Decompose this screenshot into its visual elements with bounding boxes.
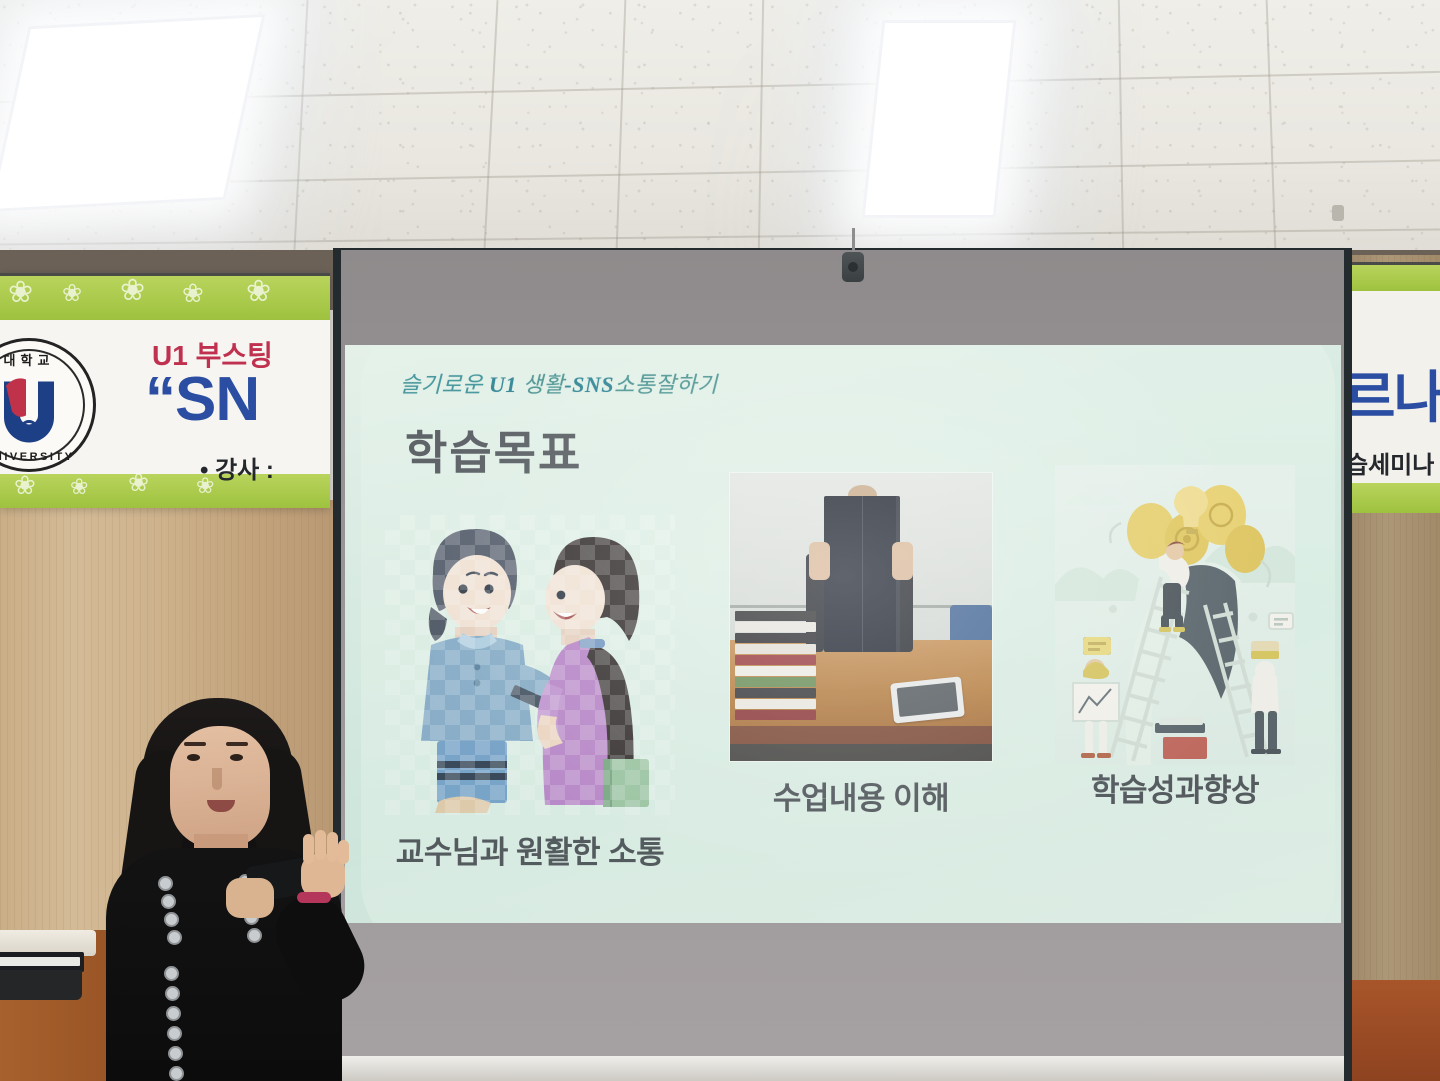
slide-caption-1: 교수님과 원활한 소통 [396,827,664,872]
dress-button [165,986,180,1001]
dress-button [158,876,173,891]
dress-button [168,1046,183,1061]
photo-book-stack [735,611,816,720]
banner-bottom-band: ❀ ❀ ❀ ❀ [0,474,330,508]
slide-header-middle: 생활 [517,372,564,397]
presenter-eye [230,754,243,761]
dress-button [166,1006,181,1021]
right-banner-big-text: 르나 [1352,353,1440,434]
slide-column-3: 학습성과향상 [1055,465,1295,765]
slide-header-text: 슬기로운 U1 생활-SNS소통잘하기 [400,367,718,399]
presenter-nose [212,768,222,790]
wainscot-right [1352,980,1440,1081]
checker-backdrop [385,515,675,815]
presenter-eyebrow [184,742,206,746]
slide-header-dash: - [564,372,572,397]
slide-header-u1: U1 [489,372,517,397]
logo-u1-mark [0,369,66,443]
banner-heading-line2: “SN [145,364,259,435]
presenter-eye [187,754,200,761]
photo-person-hand [892,542,913,579]
logo-bottom-text: UNIVERSITY [0,451,75,463]
presenter-hand-left [226,878,274,918]
presenter-finger [303,834,314,864]
presenter-finger [315,830,326,860]
slide-header-suffix: 소통잘하기 [614,372,718,397]
banner-top-band [1352,265,1440,291]
slide-caption-2: 수업내용 이해 [773,773,949,818]
dress-button [247,928,262,943]
dress-button [164,966,179,981]
dress-button [164,912,179,927]
ceiling-light-fixture [862,20,1017,218]
banner-top-band: ❀ ❀ ❀ ❀ ❀ [0,276,330,320]
right-banner-small-text: 습세미나 [1352,445,1434,480]
presenter-hand-right [295,838,353,902]
slide-caption-3: 학습성과향상 [1091,765,1259,810]
lecture-hall-photo: ❀ ❀ ❀ ❀ ❀ ❀ ❀ ❀ ❀ 대학교 UNIVERSITY U1 부스팅 … [0,0,1440,1081]
lectern-shelf [0,970,82,1000]
presenter-eyebrow [226,742,248,746]
right-wall-banner: 르나 습세미나 [1352,262,1440,513]
logo-top-text: 대학교 [4,350,55,369]
person-reading-book-photo [730,473,992,761]
photo-desk-front [730,726,992,743]
presenter-finger [338,840,349,864]
lectern-control-strip[interactable] [0,957,80,966]
presenter-wristband [297,892,331,903]
slide-header-sns: SNS [572,372,614,397]
ceiling-light-fixture [0,14,265,212]
slide-header-prefix: 슬기로운 [400,372,489,397]
photo-open-book [824,496,900,652]
photo-floor [730,744,992,761]
presenter-finger [327,832,338,862]
dress-button [169,1066,184,1081]
projected-slide: 슬기로운 U1 생활-SNS소통잘하기 학습목표 [345,345,1341,923]
banner-speaker-line: • 강사 : [200,450,274,485]
growth-ladder-head-illustration [1055,465,1295,765]
dress-button [167,930,182,945]
slide-column-2: 수업내용 이해 [730,473,992,761]
ceiling [0,0,1440,290]
dress-button [161,894,176,909]
photo-tablet [891,677,966,724]
screen-bottom-bar [341,1056,1344,1081]
ceiling-sensor-icon [1332,205,1344,221]
slide-column-1: 교수님과 원활한 소통 [385,515,675,815]
banner-bottom-band [1352,483,1440,513]
left-wall-banner: ❀ ❀ ❀ ❀ ❀ ❀ ❀ ❀ ❀ 대학교 UNIVERSITY U1 부스팅 … [0,273,330,508]
photo-person-hand [809,542,830,579]
slide-title: 학습목표 [405,417,582,483]
dress-button [167,1026,182,1041]
screen-pull-cord-handle[interactable] [842,252,864,282]
